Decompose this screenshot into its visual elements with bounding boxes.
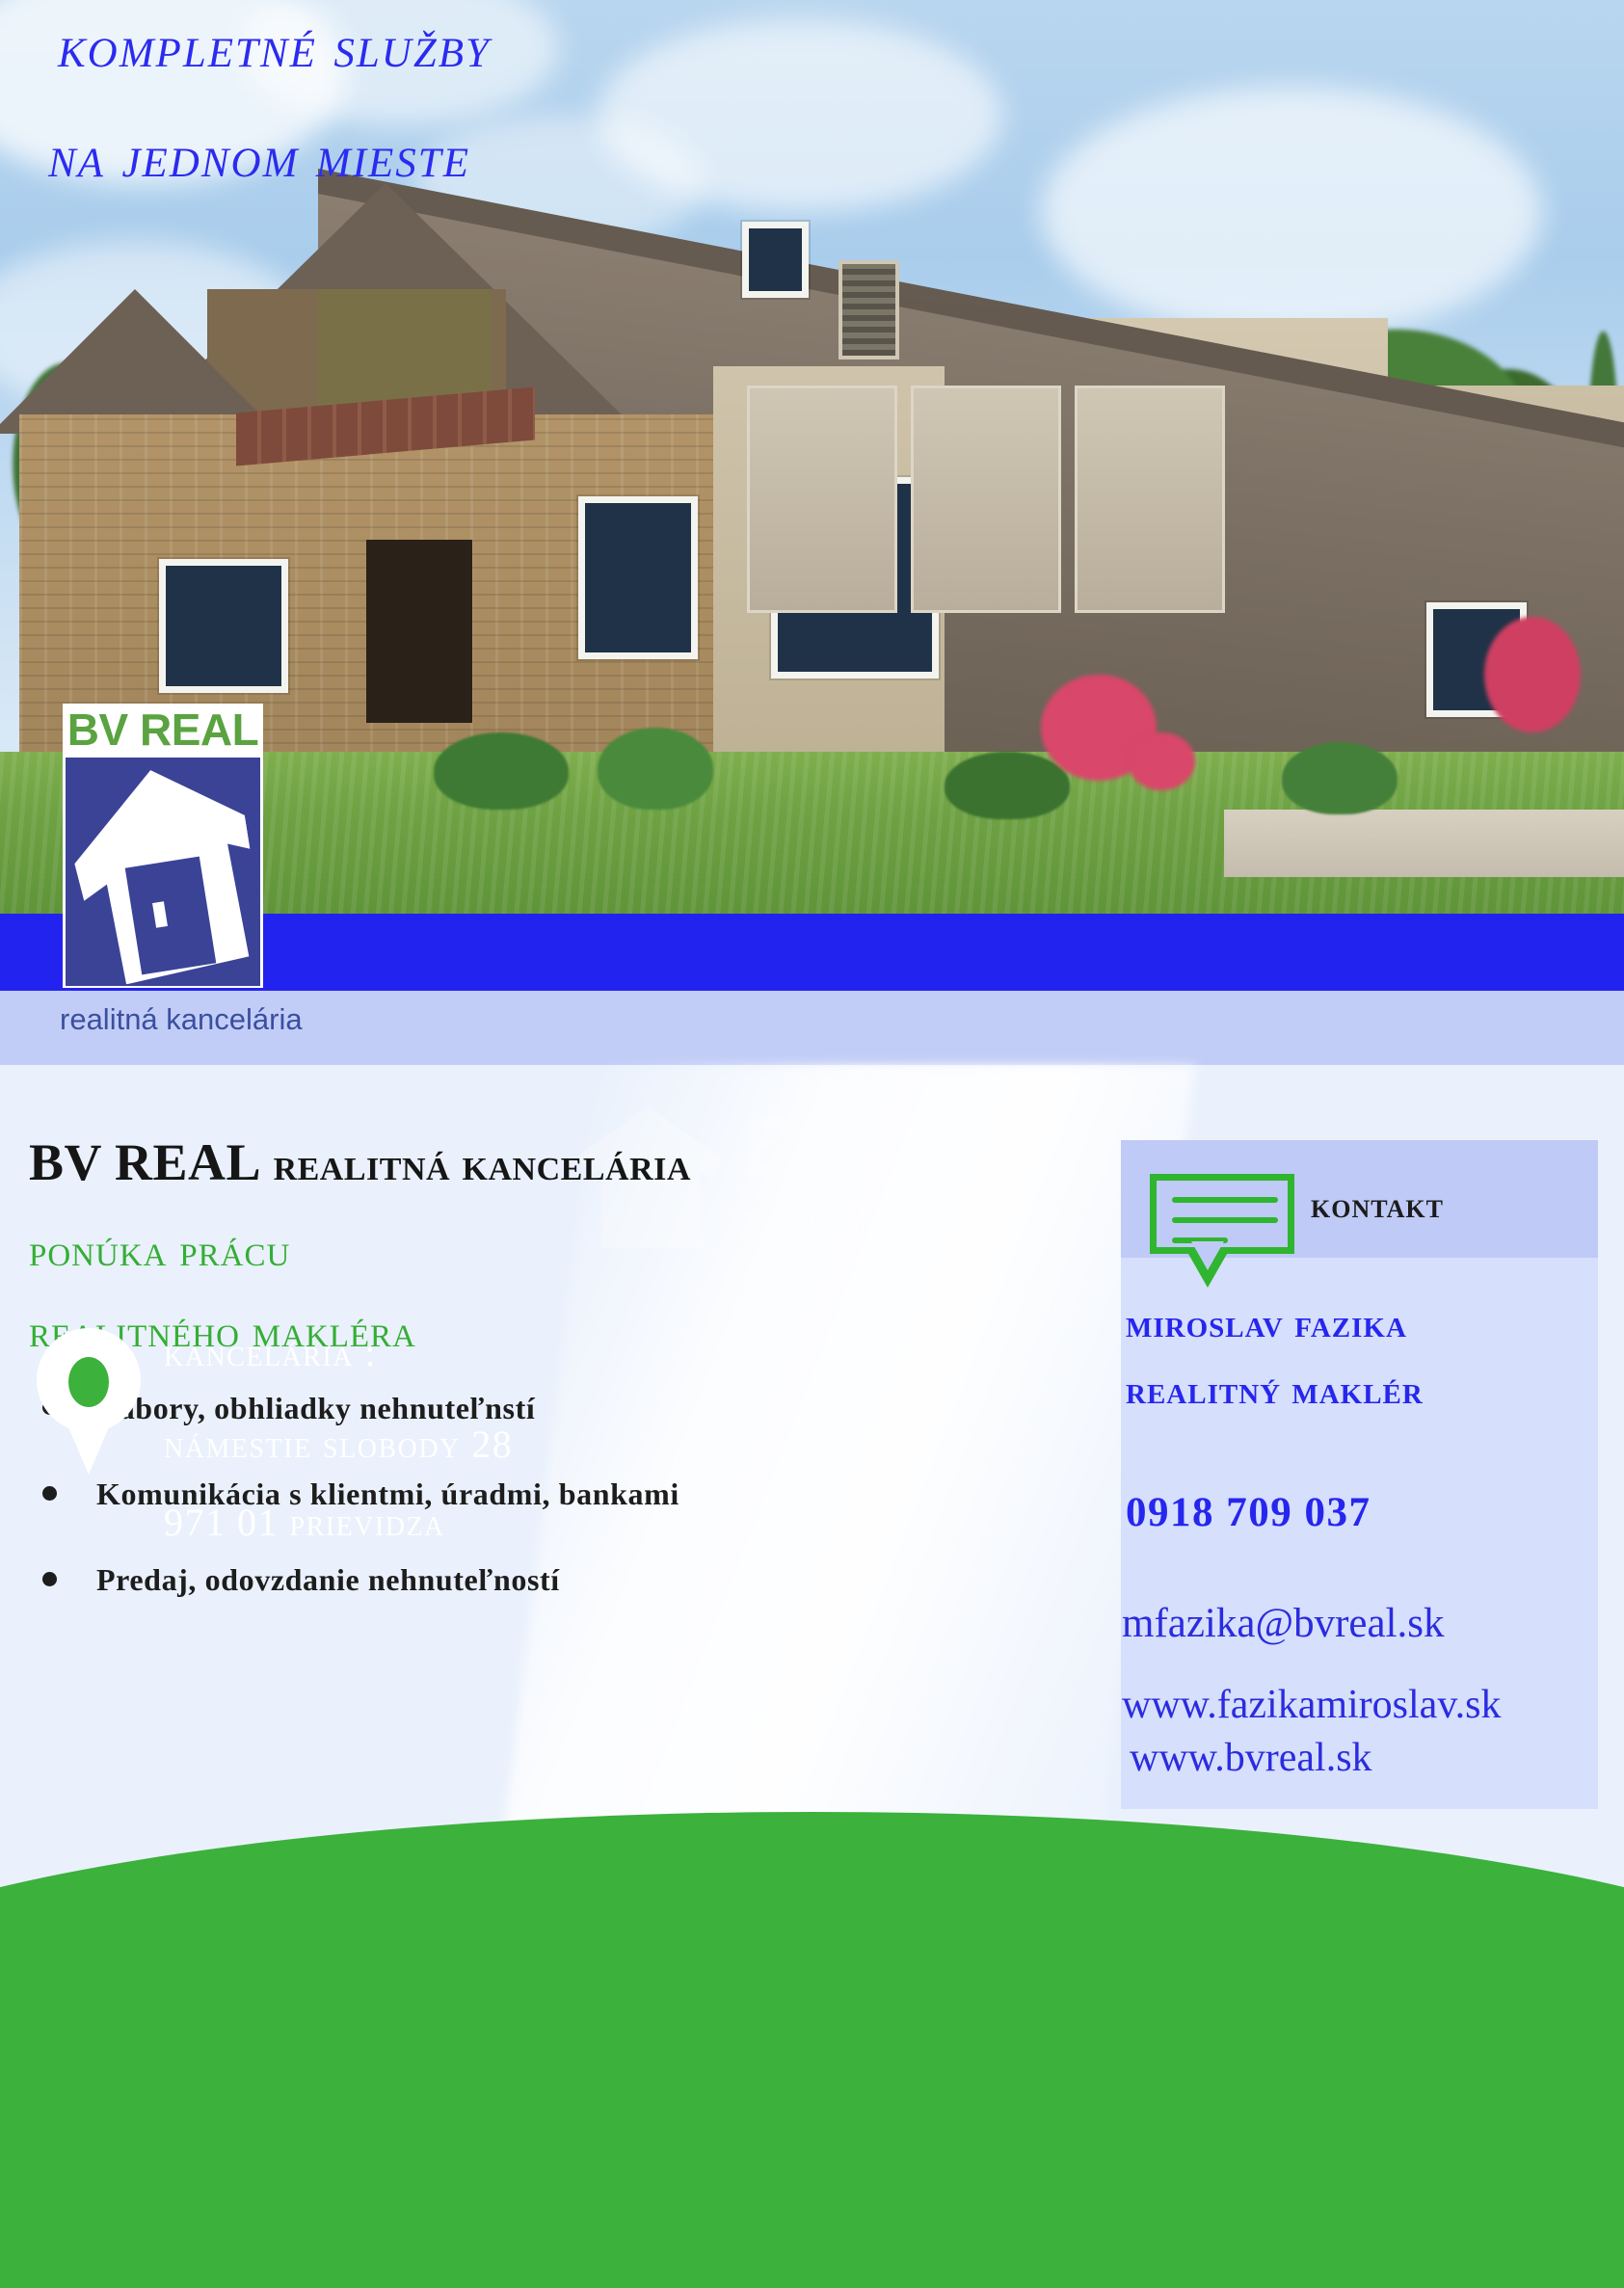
- footer-green-shape: [0, 1812, 1624, 2288]
- window: [742, 222, 809, 298]
- headline: Kompletné služby na jednom mieste: [48, 0, 1012, 187]
- garage-door: [911, 386, 1061, 613]
- title-brand: BV REAL: [29, 1133, 261, 1191]
- bullet-dot: [42, 1572, 57, 1586]
- contact-phone[interactable]: 0918 709 037: [1126, 1489, 1371, 1536]
- flyer-root: Kompletné služby na jednom mieste BV REA…: [0, 0, 1624, 2288]
- page-title: BV REAL realitná kancelária: [29, 1132, 1108, 1192]
- flowering-shrub: [1128, 732, 1195, 790]
- contact-name: Miroslav Fazika: [1126, 1301, 1407, 1347]
- flowering-shrub: [1484, 617, 1581, 732]
- window: [578, 496, 698, 659]
- shrub: [945, 752, 1070, 819]
- footer-city: 971 01 Prievidza: [164, 1500, 513, 1545]
- footer-street: Námestie slobody 28: [164, 1422, 513, 1467]
- headline-line-1: Kompletné služby: [48, 0, 1012, 77]
- garage-door: [747, 386, 897, 613]
- location-pin-icon: [37, 1328, 141, 1473]
- contact-website-1[interactable]: www.fazikamiroslav.sk: [1122, 1682, 1501, 1728]
- logo-badge: [66, 758, 260, 986]
- list-item-label: Predaj, odovzdanie nehnuteľností: [96, 1562, 560, 1597]
- title-rest: realitná kancelária: [261, 1139, 691, 1190]
- gable-vent: [839, 260, 899, 359]
- contact-website-2[interactable]: www.bvreal.sk: [1130, 1735, 1372, 1781]
- speech-bubble-tail-inner: [1191, 1241, 1224, 1270]
- garage-door: [1075, 386, 1225, 613]
- contact-email[interactable]: mfazika@bvreal.sk: [1122, 1600, 1445, 1647]
- shrub: [434, 732, 569, 810]
- footer-address: Kancelária : Námestie slobody 28 971 01 …: [164, 1330, 513, 1545]
- logo-tagline: realitná kancelária: [0, 1002, 349, 1037]
- offer-line-1: ponúka prácu: [29, 1225, 1108, 1277]
- shrub: [1282, 742, 1398, 814]
- headline-line-2: na jednom mieste: [48, 77, 1012, 187]
- bullet-dot: [42, 1486, 57, 1501]
- driveway: [1224, 810, 1624, 877]
- contact-heading: Kontakt: [1311, 1185, 1444, 1227]
- footer-office-label: Kancelária :: [164, 1330, 513, 1375]
- logo-name: BV REAL: [63, 703, 263, 757]
- logo: BV REAL: [63, 704, 263, 988]
- window: [159, 559, 288, 693]
- list-item: Predaj, odovzdanie nehnuteľností: [29, 1562, 1108, 1598]
- front-door: [366, 540, 472, 723]
- contact-role: realitný maklér: [1126, 1367, 1424, 1413]
- shrub: [598, 728, 713, 810]
